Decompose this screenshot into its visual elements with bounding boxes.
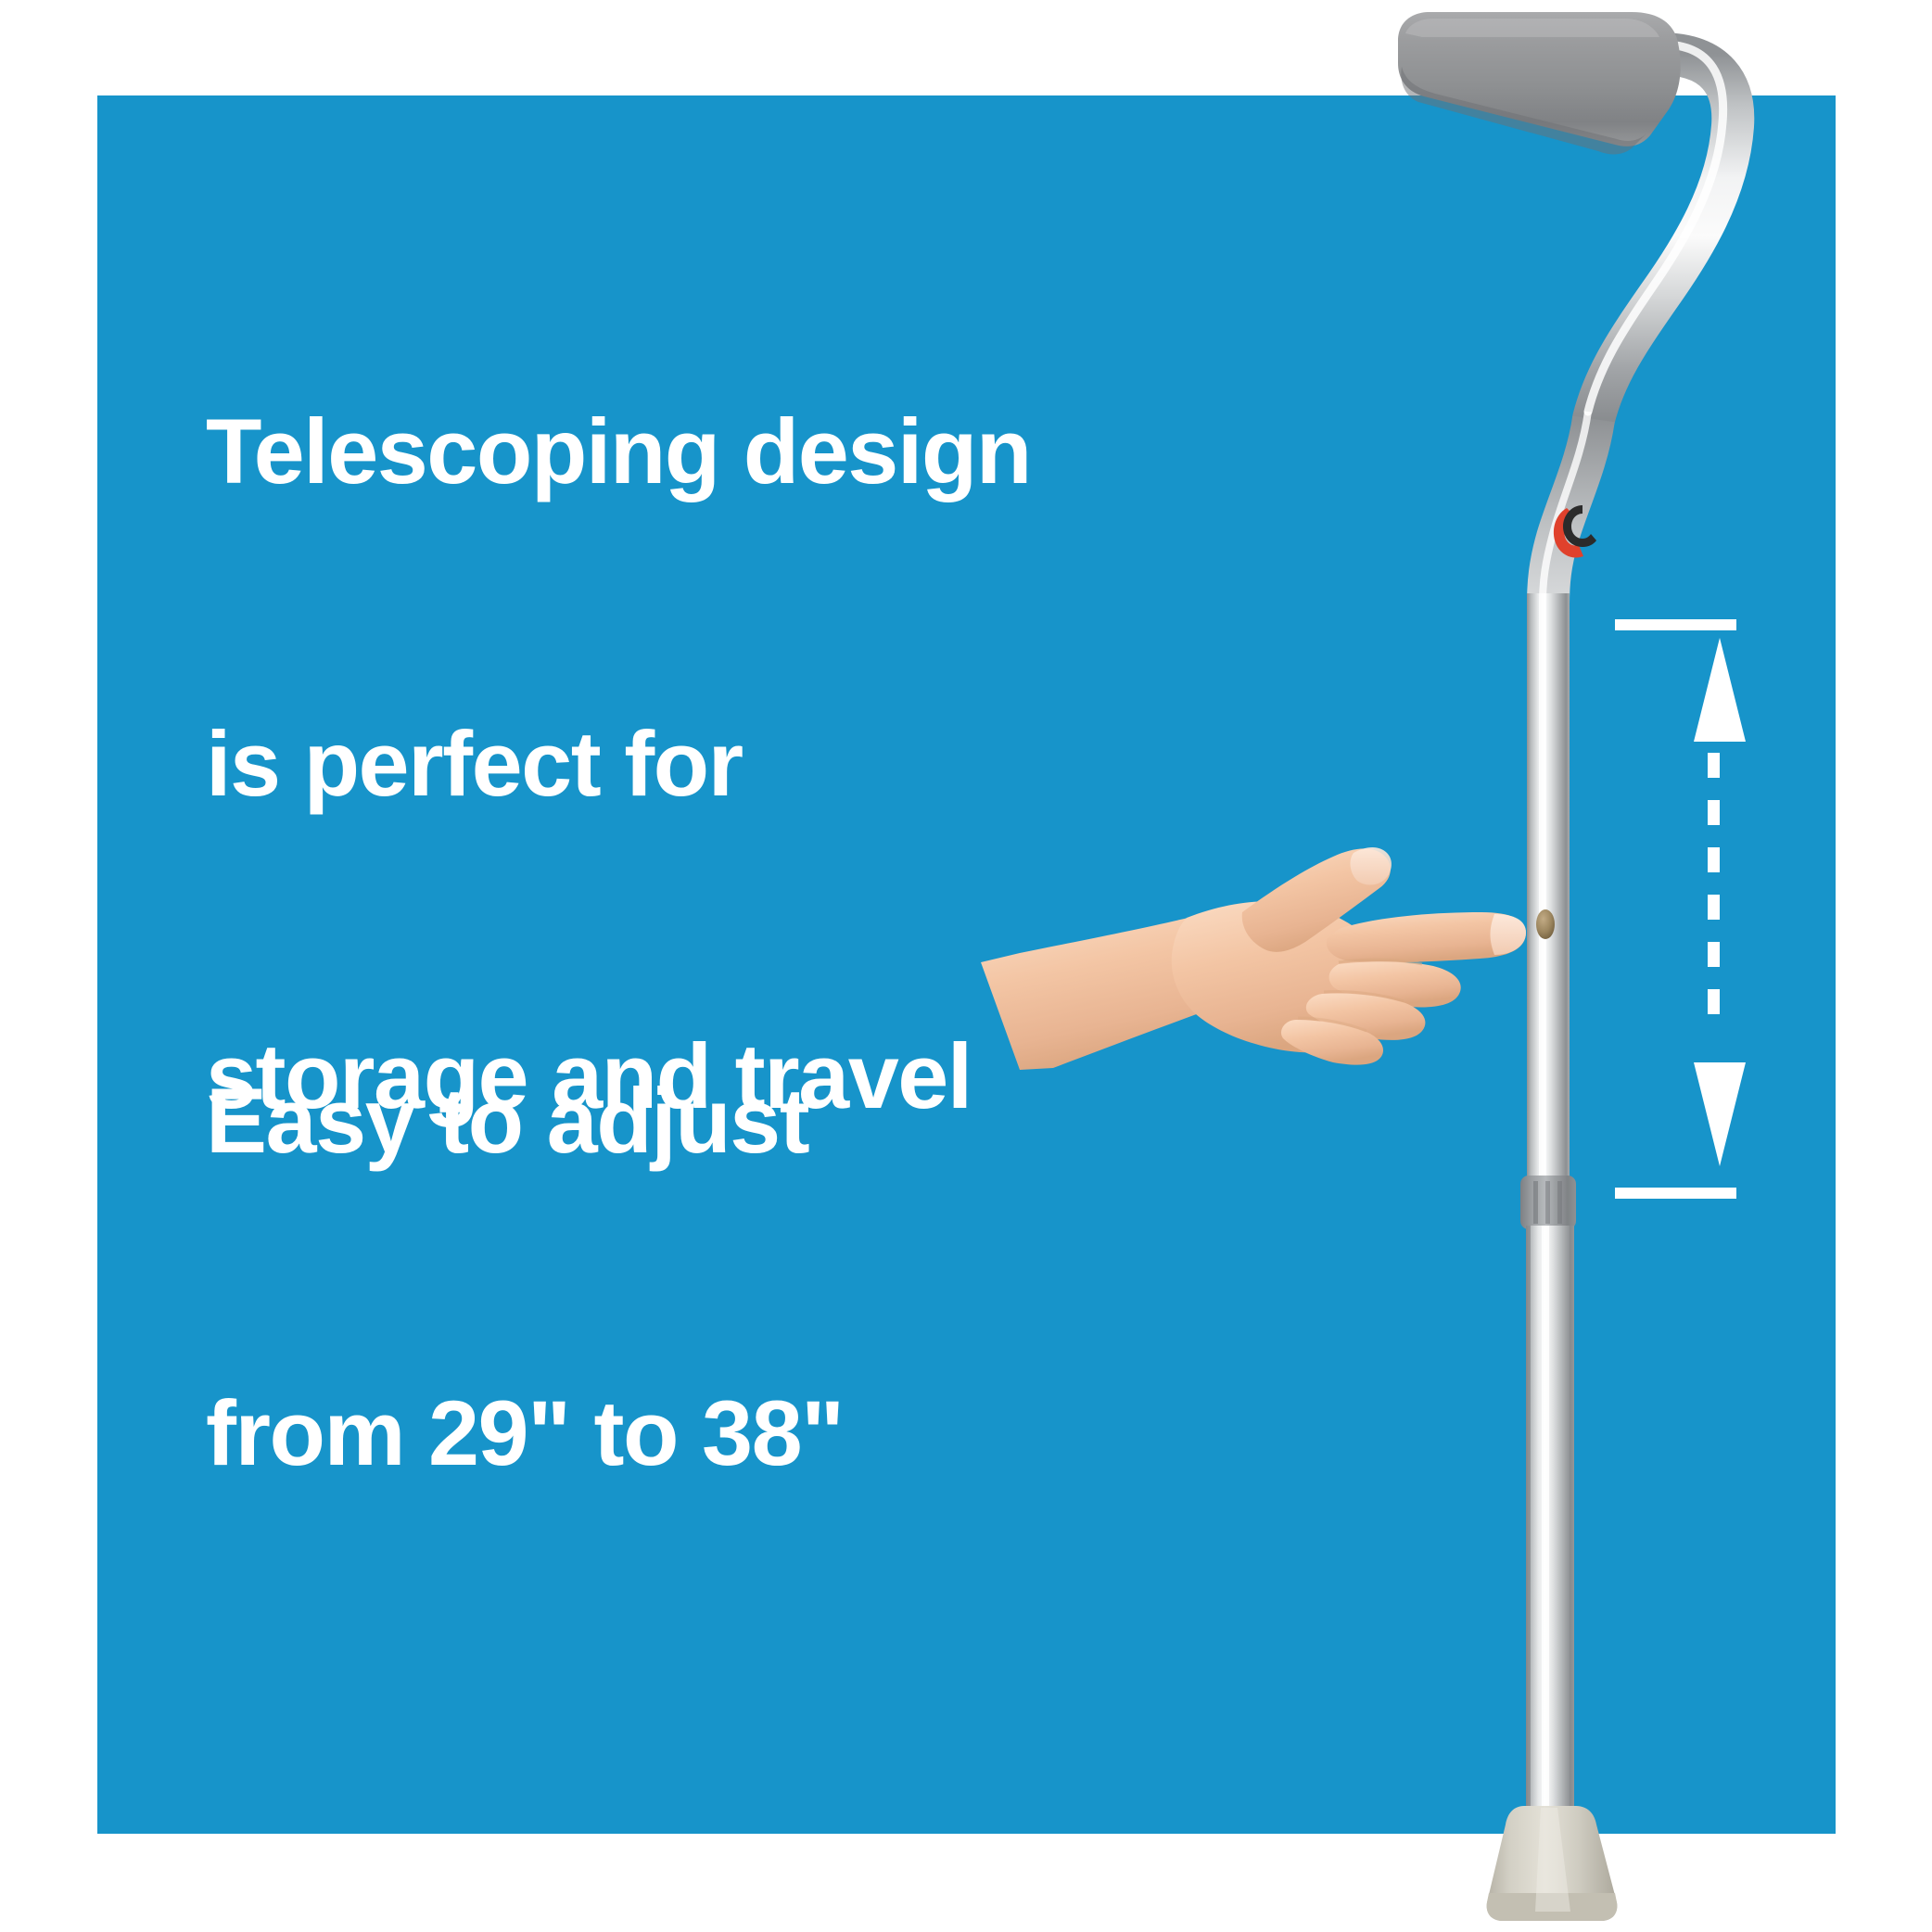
infographic-canvas: Telescoping design is perfect for storag… xyxy=(0,0,1932,1932)
dimension-dash-segment xyxy=(1708,942,1720,967)
subhead-line-2: from 29" to 38" xyxy=(206,1381,844,1485)
dimension-tick-bottom xyxy=(1615,1188,1736,1199)
dimension-dash-segment xyxy=(1708,753,1720,778)
dimension-arrow-up-icon xyxy=(1694,638,1746,742)
dimension-dash-segment xyxy=(1708,989,1720,1014)
headline-line-1: Telescoping design xyxy=(206,400,1031,503)
subheading: Easy to adjust from 29" to 38" xyxy=(206,860,844,1694)
dimension-arrow-down-icon xyxy=(1694,1062,1746,1166)
dimension-dash-segment xyxy=(1708,895,1720,920)
subhead-line-1: Easy to adjust xyxy=(206,1069,844,1173)
height-dimension-indicator xyxy=(1604,593,1761,1224)
dimension-dash-segment xyxy=(1708,847,1720,872)
dimension-tick-top xyxy=(1615,619,1736,630)
pointing-hand-illustration xyxy=(964,816,1557,1122)
dimension-dash-segment xyxy=(1708,800,1720,825)
headline-line-2: is perfect for xyxy=(206,712,1031,816)
